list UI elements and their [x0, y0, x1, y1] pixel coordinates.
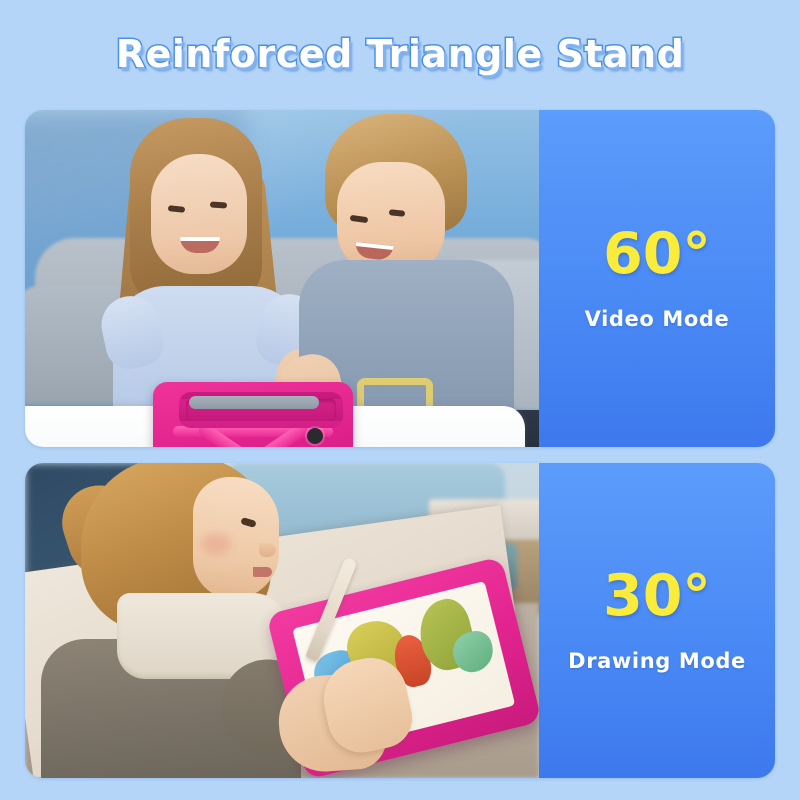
angle-value-60: 60°: [603, 226, 711, 283]
info-panel-drawing-mode: 30° Drawing Mode: [539, 463, 775, 778]
case-handle-opening: [189, 396, 319, 409]
girl2-nose: [259, 543, 276, 557]
header: Reinforced Triangle Stand: [0, 0, 800, 108]
feature-card-video-mode: 60° Video Mode: [25, 110, 775, 447]
photo-video-mode: [25, 110, 539, 447]
camera-cutout: [307, 428, 323, 444]
photo-drawing-mode: [25, 463, 539, 778]
girl2-cheek: [201, 533, 231, 555]
info-panel-video-mode: 60° Video Mode: [539, 110, 775, 447]
angle-value-30: 30°: [603, 568, 711, 625]
girl2-lips: [253, 567, 272, 577]
page-title: Reinforced Triangle Stand: [116, 32, 685, 76]
feature-card-drawing-mode: 30° Drawing Mode: [25, 463, 775, 778]
mode-label-drawing: Drawing Mode: [568, 649, 746, 673]
mode-label-video: Video Mode: [585, 307, 730, 331]
girl-face: [151, 154, 247, 274]
girl-eye-right: [210, 201, 227, 208]
tablet-case-back: [153, 382, 353, 447]
